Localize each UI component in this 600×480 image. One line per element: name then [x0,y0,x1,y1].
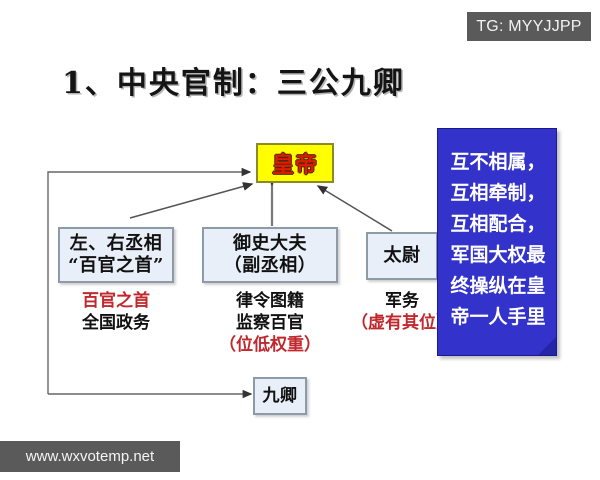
status-badge: TG: MYYJJPP [467,12,591,41]
watermark: www.wxvotemp.net [0,441,180,472]
caption-chancellor-line-2: 全国政务 [58,312,174,334]
slide-canvas: 1、中央官制：三公九卿 皇帝 左、右丞相 “百官之首” 百官之首 全国政务 御史… [0,0,600,480]
box-jiuqing-label: 九卿 [263,385,298,407]
note-panel-text: 互不相属，互相牵制，互相配合，军国大权最终操纵在皇帝一人手里 [438,147,557,333]
caption-chancellor-line-1: 百官之首 [58,290,174,312]
caption-censor-line-3: （位低权重） [202,334,338,356]
box-chancellor[interactable]: 左、右丞相 “百官之首” [58,227,174,283]
caption-censor: 律令图籍 监察百官 （位低权重） [202,290,338,356]
box-censor[interactable]: 御史大夫 （副丞相） [202,227,338,283]
caption-chancellor: 百官之首 全国政务 [58,290,174,334]
box-chancellor-line-1: 左、右丞相 [70,233,163,255]
emperor-label: 皇帝 [272,147,318,179]
emperor-box[interactable]: 皇帝 [256,143,334,183]
box-censor-line-1: 御史大夫 [233,233,307,255]
box-taiwei[interactable]: 太尉 [366,232,438,280]
caption-censor-line-2: 监察百官 [202,312,338,334]
box-censor-line-2: （副丞相） [224,255,317,277]
box-jiuqing[interactable]: 九卿 [253,377,307,415]
note-panel: 互不相属，互相牵制，互相配合，军国大权最终操纵在皇帝一人手里 [437,128,557,356]
page-fold-corner-icon [538,337,556,355]
box-chancellor-line-2: “百官之首” [68,255,164,277]
box-taiwei-line-1: 太尉 [384,245,421,267]
caption-censor-line-1: 律令图籍 [202,290,338,312]
page-title: 1、中央官制：三公九卿 [62,58,405,102]
